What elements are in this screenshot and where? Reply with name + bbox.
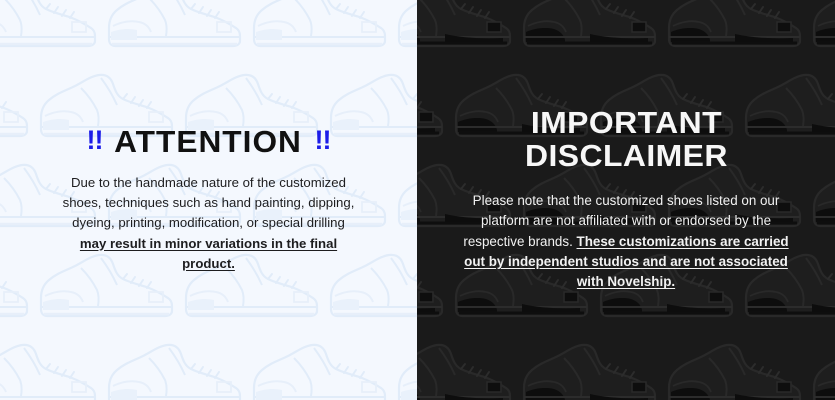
exclamation-left-icon: !!: [86, 127, 102, 154]
disclaimer-title-line-1: IMPORTANT: [525, 107, 728, 140]
disclaimer-panel: IMPORTANT DISCLAIMER Please note that th…: [417, 0, 835, 400]
disclaimer-title-line-2: DISCLAIMER: [525, 140, 728, 173]
disclaimer-content: IMPORTANT DISCLAIMER Please note that th…: [417, 0, 835, 400]
exclamation-right-icon: !!: [315, 127, 331, 154]
disclaimer-banner: !! ATTENTION !! Due to the handmade natu…: [0, 0, 835, 400]
attention-heading: !! ATTENTION !!: [86, 126, 330, 157]
attention-body-normal: Due to the handmade nature of the custom…: [63, 175, 355, 230]
attention-content: !! ATTENTION !! Due to the handmade natu…: [0, 0, 417, 400]
attention-body-emphasis: may result in minor variations in the fi…: [80, 236, 337, 271]
disclaimer-body: Please note that the customized shoes li…: [461, 191, 791, 293]
disclaimer-heading: IMPORTANT DISCLAIMER: [525, 107, 728, 173]
attention-body: Due to the handmade nature of the custom…: [59, 173, 359, 273]
attention-panel: !! ATTENTION !! Due to the handmade natu…: [0, 0, 417, 400]
attention-title: ATTENTION: [115, 126, 303, 157]
